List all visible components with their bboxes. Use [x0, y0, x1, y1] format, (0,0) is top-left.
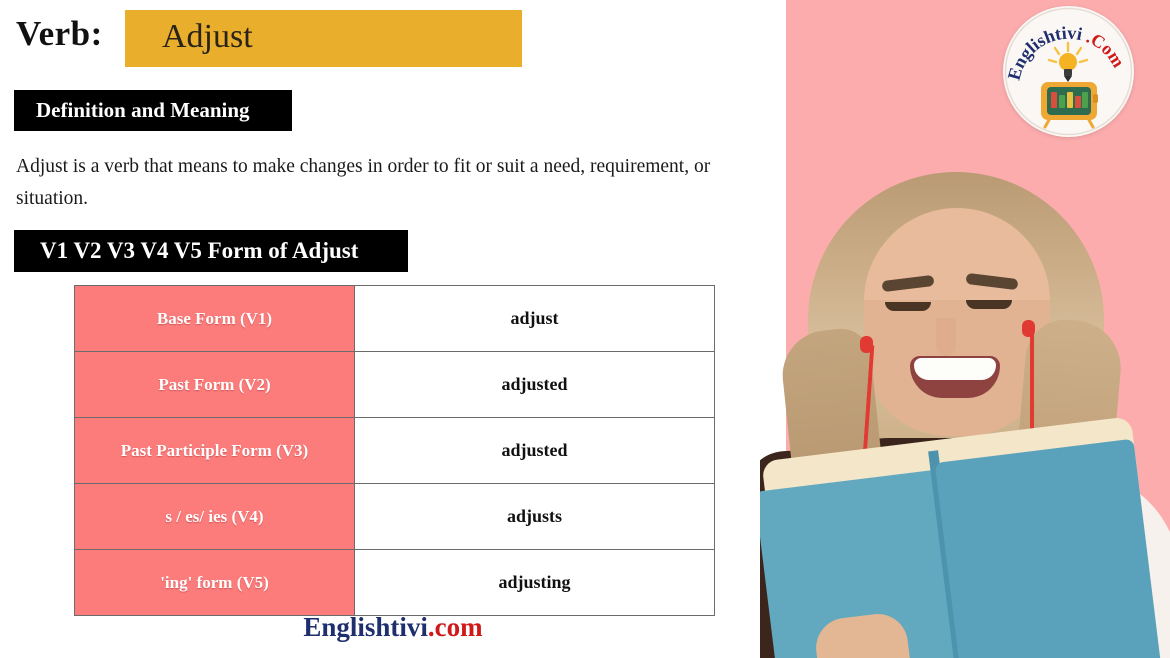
teeth — [914, 358, 996, 380]
table-row: Base Form (V1) adjust — [75, 286, 715, 352]
verb-label: Verb: — [16, 14, 103, 54]
form-label-cell: s / es/ ies (V4) — [75, 484, 355, 550]
brand-badge-graphic: Englishtivi .Com — [1003, 6, 1134, 137]
footer-brand-tld: .com — [428, 612, 483, 642]
footer-brand: Englishtivi.com — [0, 612, 786, 643]
form-label-cell: Past Participle Form (V3) — [75, 418, 355, 484]
verb-infographic-page: Englishtivi .Com — [0, 0, 1170, 658]
woman-reading-photo — [760, 150, 1170, 658]
eye-left — [885, 302, 931, 311]
form-value-cell: adjusting — [355, 550, 715, 616]
verb-word: Adjust — [162, 18, 253, 56]
footer-brand-name: Englishtivi — [303, 612, 428, 642]
verb-forms-table: Base Form (V1) adjust Past Form (V2) adj… — [74, 285, 715, 616]
form-label-cell: Base Form (V1) — [75, 286, 355, 352]
brand-badge: Englishtivi .Com — [1003, 6, 1134, 137]
book-cover-right — [935, 439, 1162, 658]
verb-forms-table-body: Base Form (V1) adjust Past Form (V2) adj… — [75, 286, 715, 616]
form-value-cell: adjusted — [355, 418, 715, 484]
definition-heading: Definition and Meaning — [14, 90, 292, 131]
table-row: Past Participle Form (V3) adjusted — [75, 418, 715, 484]
definition-text: Adjust is a verb that means to make chan… — [16, 151, 776, 215]
form-label-cell: Past Form (V2) — [75, 352, 355, 418]
eye-right — [966, 300, 1012, 309]
table-row: 'ing' form (V5) adjusting — [75, 550, 715, 616]
nose — [936, 318, 956, 356]
form-value-cell: adjusted — [355, 352, 715, 418]
mouth — [910, 356, 1000, 398]
forms-heading: V1 V2 V3 V4 V5 Form of Adjust — [14, 230, 408, 272]
form-label-cell: 'ing' form (V5) — [75, 550, 355, 616]
form-value-cell: adjust — [355, 286, 715, 352]
form-value-cell: adjusts — [355, 484, 715, 550]
table-row: s / es/ ies (V4) adjusts — [75, 484, 715, 550]
table-row: Past Form (V2) adjusted — [75, 352, 715, 418]
